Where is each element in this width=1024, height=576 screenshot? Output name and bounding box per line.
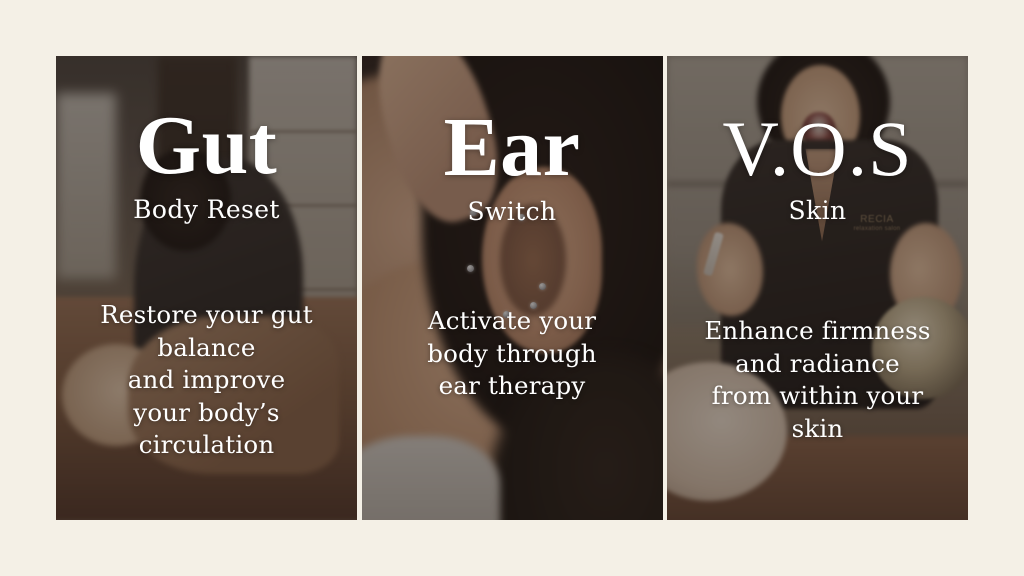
panel-title-ear: Ear <box>362 108 663 188</box>
panel-card-gut[interactable]: Gut Body Reset Restore your gut balance … <box>56 56 357 520</box>
panel-overlay-vos: V.O.S Skin Enhance firmness and radiance… <box>667 56 968 520</box>
panel-title-gut: Gut <box>56 106 357 186</box>
panel-overlay-gut: Gut Body Reset Restore your gut balance … <box>56 56 357 520</box>
panel-title-vos: V.O.S <box>667 112 968 186</box>
panel-body-vos: Enhance firmness and radiance from withi… <box>675 315 960 445</box>
panel-card-vos[interactable]: RECIA relaxation salon V.O.S Skin Enhanc… <box>667 56 968 520</box>
panel-body-gut: Restore your gut balance and improve you… <box>64 299 349 462</box>
panel-subtitle-vos: Skin <box>667 196 968 225</box>
panel-subtitle-gut: Body Reset <box>56 195 357 224</box>
panel-body-ear: Activate your body through ear therapy <box>370 305 655 403</box>
panel-overlay-ear: Ear Switch Activate your body through ea… <box>362 56 663 520</box>
panel-row: Gut Body Reset Restore your gut balance … <box>56 56 968 520</box>
panel-subtitle-ear: Switch <box>362 197 663 226</box>
panel-card-ear[interactable]: Ear Switch Activate your body through ea… <box>362 56 663 520</box>
slide-canvas: Gut Body Reset Restore your gut balance … <box>0 0 1024 576</box>
